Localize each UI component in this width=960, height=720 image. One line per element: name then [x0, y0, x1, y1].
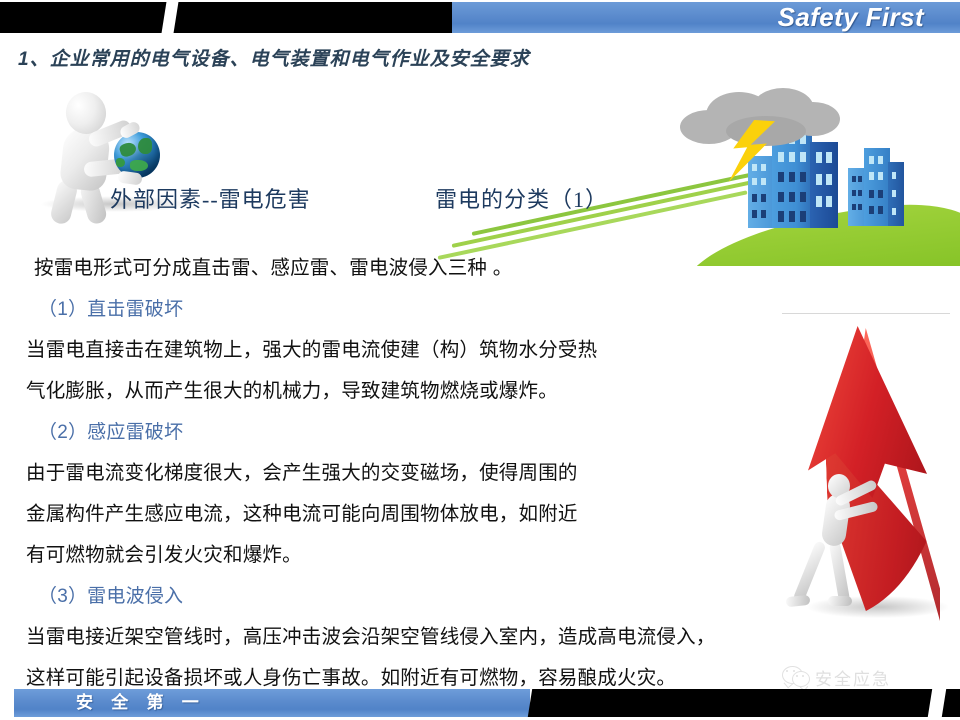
- text-line-heading: （1）直击雷破坏: [26, 289, 786, 330]
- divider-line: [782, 313, 950, 314]
- slide-header: Safety First: [0, 0, 960, 36]
- footer-black-bar-end: [942, 689, 960, 717]
- text-line: 当雷电直接击在建筑物上，强大的雷电流使建（构）筑物水分受热: [26, 330, 786, 371]
- subtitle-row: 外部因素--雷电危害 雷电的分类（1）: [0, 182, 700, 216]
- text-line-heading: （3）雷电波侵入: [26, 576, 786, 617]
- body-text-block: 按雷电形式可分成直击雷、感应雷、雷电波侵入三种 。 （1）直击雷破坏 当雷电直接…: [26, 248, 786, 699]
- wechat-icon: [782, 666, 808, 688]
- text-line: 气化膨胀，从而产生很大的机械力，导致建筑物燃烧或爆炸。: [26, 371, 786, 412]
- footer-label: 安 全 第 一: [76, 689, 206, 717]
- text-line: 金属构件产生感应电流，这种电流可能向周围物体放电，如附近: [26, 494, 786, 535]
- storm-city-illustration: [652, 82, 960, 264]
- building-right-dark: [888, 162, 904, 226]
- text-line: 由于雷电流变化梯度很大，会产生强大的交变磁场，使得周围的: [26, 453, 786, 494]
- footer-black-bar: [528, 689, 936, 717]
- subtitle-right: 雷电的分类（1）: [435, 182, 608, 214]
- building-dark: [810, 142, 838, 228]
- text-line-heading: （2）感应雷破坏: [26, 412, 786, 453]
- man-leg-back: [792, 540, 826, 603]
- text-line: 当雷电接近架空管线时，高压冲击波会沿架空管线侵入室内，造成高电流侵入，: [26, 617, 786, 658]
- man-pushing-arrow-icon: [790, 468, 900, 648]
- storm-cloud-icon: [680, 88, 840, 146]
- man-leg-front: [829, 542, 850, 603]
- header-black-bar-mid: [174, 2, 447, 33]
- red-arrow-illustration: [780, 318, 960, 658]
- slide-footer: 安 全 第 一: [0, 686, 960, 720]
- man-foot-front: [828, 596, 852, 606]
- brand-title: Safety First: [778, 0, 924, 36]
- building-left: [748, 156, 774, 228]
- subtitle-left: 外部因素--雷电危害: [110, 182, 311, 214]
- text-line: 按雷电形式可分成直击雷、感应雷、雷电波侵入三种 。: [26, 248, 786, 289]
- page-title: 1、企业常用的电气设备、电气装置和电气作业及安全要求: [18, 44, 530, 71]
- text-line: 有可燃物就会引发火灾和爆炸。: [26, 535, 786, 576]
- header-black-bar-left: [0, 2, 166, 33]
- man-foot-back: [786, 595, 811, 607]
- building-right-tall: [864, 148, 890, 226]
- slide-canvas: Safety First 1、企业常用的电气设备、电气装置和电气作业及安全要求: [0, 0, 960, 720]
